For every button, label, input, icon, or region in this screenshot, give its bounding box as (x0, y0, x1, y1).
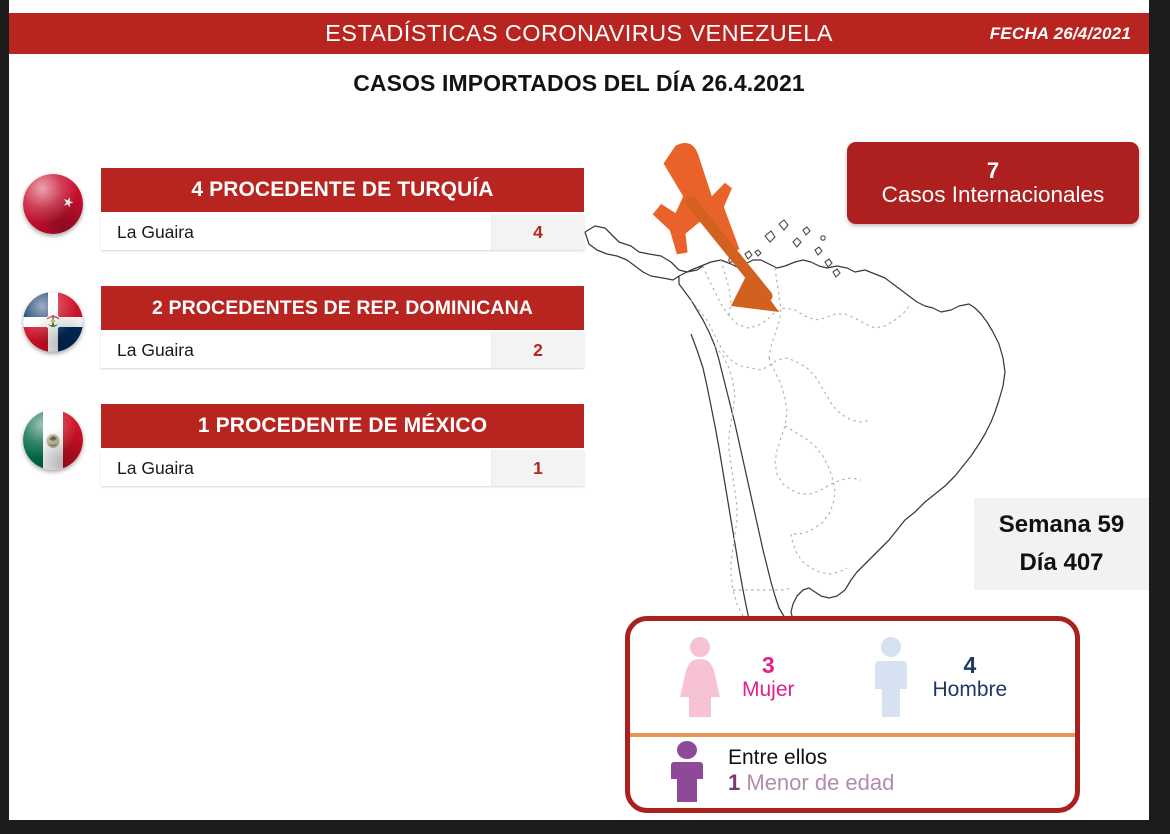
female-text: 3 Mujer (742, 652, 795, 703)
country-row-mexico: 1 PROCEDENTE DE MÉXICO La Guaira 1 (23, 404, 593, 500)
gender-top-row: 3 Mujer 4 H (630, 621, 1075, 733)
state-count: 1 (492, 450, 584, 486)
page-title: ESTADÍSTICAS CORONAVIRUS VENEZUELA (9, 20, 1149, 47)
state-count: 2 (492, 332, 584, 368)
country-data-dominican-republic: La Guaira 2 (101, 332, 584, 368)
minor-row: Entre ellos 1 Menor de edad (630, 733, 1075, 809)
period-box: Semana 59 Día 407 (974, 498, 1149, 590)
state-name: La Guaira (101, 214, 492, 250)
child-figure-icon (666, 740, 708, 802)
female-figure-icon (674, 635, 726, 719)
country-row-turkey: 4 PROCEDENTE DE TURQUÍA La Guaira 4 (23, 168, 593, 264)
male-count: 4 (933, 652, 1008, 678)
minor-count: 1 (728, 770, 740, 795)
minor-text: Entre ellos 1 Menor de edad (728, 745, 894, 797)
country-headline-dominican-republic: 2 PROCEDENTES DE REP. DOMINICANA (101, 286, 584, 330)
male-figure-icon (865, 635, 917, 719)
day-number: Día 407 (1019, 549, 1103, 577)
minor-line2: 1 Menor de edad (728, 770, 894, 796)
screenshot-frame: ESTADÍSTICAS CORONAVIRUS VENEZUELA FECHA… (0, 0, 1170, 834)
country-headline-mexico: 1 PROCEDENTE DE MÉXICO (101, 404, 584, 448)
minor-label: Menor de edad (746, 770, 894, 795)
state-name: La Guaira (101, 332, 492, 368)
male-text: 4 Hombre (933, 652, 1008, 703)
header-date: FECHA 26/4/2021 (990, 24, 1131, 44)
subtitle: CASOS IMPORTADOS DEL DÍA 26.4.2021 (9, 70, 1149, 97)
male-stat: 4 Hombre (865, 635, 1008, 719)
country-data-turkey: La Guaira 4 (101, 214, 584, 250)
female-stat: 3 Mujer (674, 635, 795, 719)
male-label: Hombre (933, 678, 1008, 702)
arrow-to-venezuela (691, 202, 779, 312)
mexico-flag-icon (23, 410, 83, 470)
state-count: 4 (492, 214, 584, 250)
week-number: Semana 59 (999, 511, 1124, 539)
female-label: Mujer (742, 678, 795, 702)
minor-line1: Entre ellos (728, 745, 894, 770)
gender-breakdown-box: 3 Mujer 4 H (625, 616, 1080, 813)
infographic-canvas: ESTADÍSTICAS CORONAVIRUS VENEZUELA FECHA… (9, 0, 1149, 820)
international-cases-box: 7 Casos Internacionales (847, 142, 1139, 224)
state-name: La Guaira (101, 450, 492, 486)
dominican-republic-flag-icon (23, 292, 83, 352)
country-row-dominican-republic: 2 PROCEDENTES DE REP. DOMINICANA La Guai… (23, 286, 593, 382)
turkey-flag-icon (23, 174, 83, 234)
imported-cases-list: 4 PROCEDENTE DE TURQUÍA La Guaira 4 (23, 168, 593, 522)
international-cases-label: Casos Internacionales (882, 182, 1105, 208)
international-cases-count: 7 (987, 159, 999, 182)
airplane-icon (646, 139, 759, 267)
country-headline-turkey: 4 PROCEDENTE DE TURQUÍA (101, 168, 584, 212)
female-count: 3 (742, 652, 795, 678)
country-data-mexico: La Guaira 1 (101, 450, 584, 486)
header-bar: ESTADÍSTICAS CORONAVIRUS VENEZUELA FECHA… (9, 13, 1149, 54)
